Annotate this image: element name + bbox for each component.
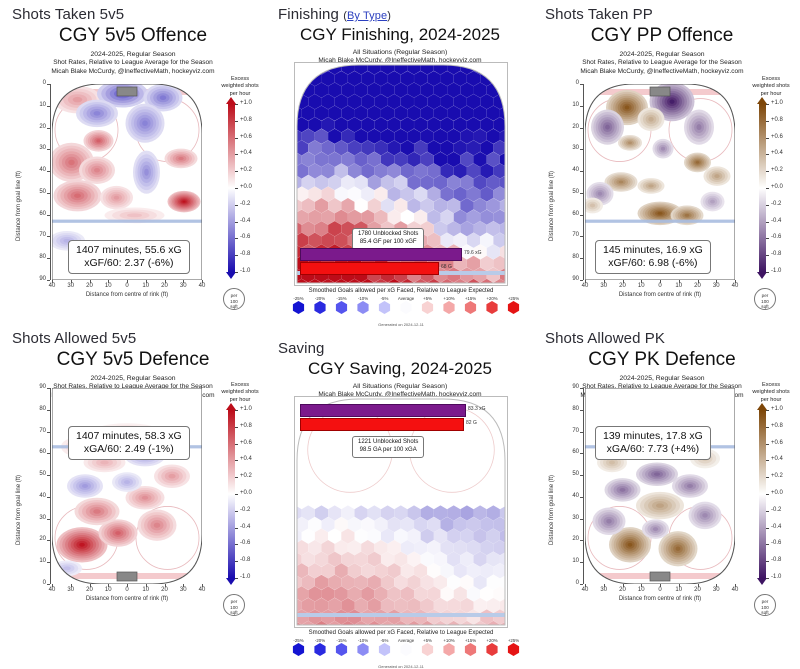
- x-axis-tick: 40: [726, 587, 744, 593]
- colorbar-tickmark: [766, 121, 769, 122]
- hex-legend-item: Average: [396, 296, 417, 314]
- colorbar-tickmark: [235, 410, 238, 411]
- x-axis-tickmark: [641, 584, 642, 587]
- colorbar-tickmark: [766, 272, 769, 273]
- y-axis-tick: 30: [561, 145, 579, 151]
- y-axis-tickmark: [47, 193, 50, 194]
- y-axis-tickmark: [47, 258, 50, 259]
- x-axis-tickmark: [660, 280, 661, 283]
- stat-box-pp-offence: 145 minutes, 16.9 xG xGF/60: 6.98 (-6%): [595, 240, 711, 274]
- colorbar-min-arrow: [757, 578, 767, 585]
- colorbar-5v5-offence: Excessweighted shotsper hour+1.0+0.8+0.6…: [216, 76, 272, 306]
- colorbar-tick-label: +0.6: [771, 134, 783, 140]
- x-axis-tickmark: [641, 280, 642, 283]
- hex-legend-saving: Smoothed Goals allowed per xG Faced, Rel…: [276, 630, 526, 667]
- colorbar-tickmark: [235, 427, 238, 428]
- hex-legend-label: -15%: [331, 638, 352, 643]
- y-axis-tick: 20: [561, 124, 579, 130]
- y-axis-tick: 70: [561, 428, 579, 434]
- hex-legend-label: Average: [396, 296, 417, 301]
- colorbar-tickmark: [766, 444, 769, 445]
- y-axis-tick: 10: [561, 558, 579, 564]
- y-axis-label: Distance from goal line (ft): [549, 171, 555, 241]
- y-axis-tickmark: [580, 584, 583, 585]
- per-area-badge: per100sqft: [223, 288, 245, 310]
- y-axis-tickmark: [47, 84, 50, 85]
- y-axis-tickmark: [580, 475, 583, 476]
- colorbar-tick-label: +0.0: [771, 490, 783, 496]
- x-axis-tick: 0: [118, 283, 136, 289]
- x-axis-tickmark: [146, 584, 147, 587]
- colorbar-tick-label: +0.2: [240, 167, 252, 173]
- y-axis-tick: 90: [561, 384, 579, 390]
- colorbar-gradient: [228, 104, 235, 272]
- colorbar-tick-label: -1.0: [771, 268, 781, 274]
- y-axis-tick: 70: [28, 232, 46, 238]
- colorbar-tickmark: [235, 544, 238, 545]
- y-axis-tick: 60: [28, 449, 46, 455]
- x-axis-tickmark: [108, 584, 109, 587]
- x-axis-tick: 20: [156, 587, 174, 593]
- x-axis-tick: 40: [576, 283, 594, 289]
- x-axis-tickmark: [623, 584, 624, 587]
- y-axis-tick: 90: [28, 384, 46, 390]
- colorbar-tickmark: [766, 544, 769, 545]
- y-axis-tick: 90: [561, 276, 579, 282]
- y-axis-tick: 50: [561, 189, 579, 195]
- y-axis-tickmark: [580, 149, 583, 150]
- colorbar-tick-label: -0.6: [240, 540, 250, 546]
- colorbar-tick-label: +0.4: [771, 150, 783, 156]
- y-axis-spine: [50, 84, 51, 280]
- x-axis-tickmark: [735, 584, 736, 587]
- hex-legend-label: -20%: [310, 638, 331, 643]
- y-axis-tickmark: [47, 432, 50, 433]
- x-axis-tick: 30: [174, 587, 192, 593]
- colorbar-tick-label: +0.0: [240, 184, 252, 190]
- x-axis-tickmark: [108, 280, 109, 283]
- colorbar-tickmark: [235, 255, 238, 256]
- hex-legend-item: -15%: [331, 296, 352, 314]
- colorbar-tick-label: -0.8: [771, 251, 781, 257]
- y-axis-tickmark: [580, 562, 583, 563]
- colorbar-tickmark: [766, 188, 769, 189]
- colorbar-tick-label: +1.0: [771, 100, 783, 106]
- x-axis-tick: 20: [614, 283, 632, 289]
- y-axis-tick: 40: [561, 493, 579, 499]
- bar-expected-label-finishing: 79.6 xG: [464, 250, 482, 256]
- hex-legend-swatch: [507, 301, 520, 314]
- y-axis-label: Distance from goal line (ft): [16, 171, 22, 241]
- hex-legend-title-finishing: Smoothed Goals allowed per xG Faced, Rel…: [276, 288, 526, 294]
- hex-legend-swatch: [335, 301, 348, 314]
- colorbar-tick-label: -0.2: [771, 201, 781, 207]
- y-axis-tickmark: [47, 149, 50, 150]
- y-axis-tickmark: [47, 128, 50, 129]
- x-axis-tickmark: [660, 584, 661, 587]
- y-axis-tick: 20: [561, 536, 579, 542]
- y-axis-tickmark: [580, 193, 583, 194]
- hex-legend-label: -10%: [353, 296, 374, 301]
- colorbar-tickmark: [766, 410, 769, 411]
- per-area-badge: per100sqft: [754, 594, 776, 616]
- y-axis-tickmark: [580, 432, 583, 433]
- y-axis-tickmark: [47, 171, 50, 172]
- y-axis-tick: 60: [28, 211, 46, 217]
- per-area-badge: per100sqft: [754, 288, 776, 310]
- hex-legend-item: -10%: [353, 638, 374, 656]
- per-area-badge: per100sqft: [223, 594, 245, 616]
- y-axis-tick: 40: [28, 493, 46, 499]
- y-axis-spine: [583, 388, 584, 584]
- hex-legend-finishing: Smoothed Goals allowed per xG Faced, Rel…: [276, 288, 526, 325]
- hex-legend-label: +25%: [503, 638, 524, 643]
- colorbar-tick-label: -0.2: [240, 507, 250, 513]
- hex-legend-swatch: [314, 643, 327, 656]
- y-axis-tickmark: [580, 280, 583, 281]
- colorbar-gradient: [228, 410, 235, 578]
- panel-saving: Saving CGY Saving, 2024-2025 All Situati…: [268, 326, 533, 653]
- x-axis-tick: 0: [651, 283, 669, 289]
- colorbar-tickmark: [235, 154, 238, 155]
- hex-legend-item: +5%: [417, 638, 438, 656]
- colorbar-min-arrow: [226, 272, 236, 279]
- hex-legend-swatch: [378, 643, 391, 656]
- x-axis-tickmark: [127, 280, 128, 283]
- hex-legend-item: -25%: [288, 296, 309, 314]
- colorbar-tick-label: -0.2: [240, 201, 250, 207]
- x-axis-tickmark: [716, 280, 717, 283]
- x-axis-tick: 10: [632, 283, 650, 289]
- hex-legend-label: -5%: [374, 638, 395, 643]
- stat-box-5v5-defence: 1407 minutes, 58.3 xG xGA/60: 2.49 (-1%): [68, 426, 190, 460]
- y-axis-tickmark: [47, 519, 50, 520]
- y-axis-tick: 70: [28, 428, 46, 434]
- hex-legend-item: +25%: [503, 638, 524, 656]
- x-axis-tick: 30: [62, 283, 80, 289]
- rink-surface: [52, 388, 202, 584]
- x-axis-tick: 20: [689, 587, 707, 593]
- colorbar-title: Excessweighted shotsper hour: [747, 76, 795, 98]
- stat-box-pk-defence: 139 minutes, 17.8 xG xGA/60: 7.73 (+4%): [595, 426, 711, 460]
- colorbar-tick-label: +0.4: [240, 456, 252, 462]
- colorbar-tickmark: [766, 205, 769, 206]
- hex-legend-item: -5%: [374, 296, 395, 314]
- panel-finishing: Finishing (By Type) CGY Finishing, 2024-…: [268, 0, 533, 326]
- y-axis-tick: 30: [28, 145, 46, 151]
- colorbar-tick-label: -1.0: [240, 268, 250, 274]
- hex-legend-swatch: [378, 301, 391, 314]
- hex-legend-label: -5%: [374, 296, 395, 301]
- colorbar-title: Excessweighted shotsper hour: [216, 76, 264, 98]
- x-axis-tickmark: [585, 584, 586, 587]
- x-axis-tickmark: [585, 280, 586, 283]
- hex-legend-swatch: [400, 301, 413, 314]
- y-axis-tick: 50: [28, 189, 46, 195]
- y-axis-tickmark: [580, 215, 583, 216]
- hex-legend-label: -10%: [353, 638, 374, 643]
- colorbar-tickmark: [235, 272, 238, 273]
- hex-legend-swatch: [292, 643, 305, 656]
- x-axis-tick: 10: [137, 587, 155, 593]
- x-axis-tickmark: [71, 584, 72, 587]
- y-axis-tickmark: [47, 388, 50, 389]
- colorbar-tick-label: -1.0: [240, 574, 250, 580]
- colorbar-gradient: [759, 104, 766, 272]
- rink-surface: [585, 388, 735, 584]
- colorbar-tickmark: [766, 104, 769, 105]
- colorbar-min-arrow: [757, 272, 767, 279]
- y-axis-tickmark: [47, 497, 50, 498]
- colorbar-tick-label: +0.4: [771, 456, 783, 462]
- colorbar-tick-label: -0.8: [240, 557, 250, 563]
- colorbar-tick-label: +0.8: [240, 423, 252, 429]
- colorbar-tick-label: -0.4: [240, 524, 250, 530]
- colorbar-tick-label: -1.0: [771, 574, 781, 580]
- x-axis-tick: 30: [62, 587, 80, 593]
- x-axis-tickmark: [90, 280, 91, 283]
- hex-legend-item: +5%: [417, 296, 438, 314]
- y-axis-tickmark: [580, 453, 583, 454]
- hex-legend-item: +10%: [439, 296, 460, 314]
- x-axis-tick: 10: [137, 283, 155, 289]
- colorbar-tick-label: +0.8: [771, 423, 783, 429]
- x-axis-tickmark: [165, 584, 166, 587]
- x-axis-label: Distance from centre of rink (ft): [585, 596, 735, 602]
- chart-title-finishing: CGY Finishing, 2024-2025: [280, 26, 520, 44]
- hex-legend-label: +15%: [460, 638, 481, 643]
- colorbar-max-arrow: [757, 97, 767, 104]
- colorbar-tick-label: -0.8: [240, 251, 250, 257]
- x-axis-tick: 20: [81, 587, 99, 593]
- hex-legend-swatch: [357, 301, 370, 314]
- x-axis-tick: 30: [595, 283, 613, 289]
- finishing-by-type-link[interactable]: By Type: [347, 10, 387, 22]
- y-axis-tick: 80: [561, 406, 579, 412]
- colorbar-tickmark: [235, 138, 238, 139]
- colorbar-tick-label: +0.2: [771, 167, 783, 173]
- y-axis-tick: 80: [28, 254, 46, 260]
- colorbar-tick-label: +0.6: [240, 134, 252, 140]
- x-axis-tickmark: [165, 280, 166, 283]
- x-axis-tickmark: [90, 584, 91, 587]
- hex-legend-swatch: [314, 301, 327, 314]
- y-axis-tick: 20: [28, 124, 46, 130]
- x-axis-tick: 10: [632, 587, 650, 593]
- y-axis-tickmark: [580, 258, 583, 259]
- y-axis-tickmark: [580, 171, 583, 172]
- hex-legend-swatch: [486, 301, 499, 314]
- y-axis-tick: 80: [561, 254, 579, 260]
- y-axis-tickmark: [47, 584, 50, 585]
- hex-legend-label: -20%: [310, 296, 331, 301]
- y-axis-tick: 10: [28, 558, 46, 564]
- x-axis-tick: 20: [614, 587, 632, 593]
- x-axis-tickmark: [71, 280, 72, 283]
- colorbar-tickmark: [766, 238, 769, 239]
- x-axis-tick: 40: [193, 587, 211, 593]
- y-axis-tick: 10: [561, 102, 579, 108]
- hex-legend-swatch: [443, 643, 456, 656]
- x-axis-tick: 0: [651, 587, 669, 593]
- saving-situations: All Situations (Regular Season): [280, 382, 520, 391]
- colorbar-tickmark: [766, 561, 769, 562]
- y-axis-tick: 60: [561, 449, 579, 455]
- colorbar-tick-label: +0.0: [771, 184, 783, 190]
- x-axis-tick: 40: [193, 283, 211, 289]
- hex-legend-item: -10%: [353, 296, 374, 314]
- hex-legend-label: +5%: [417, 296, 438, 301]
- colorbar-tickmark: [235, 171, 238, 172]
- x-axis-tick: 10: [99, 587, 117, 593]
- panel-shots-allowed-5v5: Shots Allowed 5v5 CGY 5v5 Defence 2024-2…: [0, 326, 268, 653]
- colorbar-tick-label: -0.6: [771, 540, 781, 546]
- x-axis-tickmark: [698, 280, 699, 283]
- y-axis-tick: 30: [28, 515, 46, 521]
- x-axis-label: Distance from centre of rink (ft): [52, 292, 202, 298]
- x-axis-tick: 40: [726, 283, 744, 289]
- colorbar-tick-label: -0.4: [771, 218, 781, 224]
- colorbar-tick-label: -0.6: [771, 234, 781, 240]
- x-axis-tick: 30: [707, 283, 725, 289]
- hex-legend-item: Average: [396, 638, 417, 656]
- colorbar-tickmark: [235, 528, 238, 529]
- hex-legend-item: +25%: [503, 296, 524, 314]
- hex-legend-item: -20%: [310, 296, 331, 314]
- x-axis-tick: 30: [707, 587, 725, 593]
- colorbar-tick-label: -0.4: [771, 524, 781, 530]
- y-axis-tick: 0: [28, 580, 46, 586]
- x-axis-tickmark: [604, 280, 605, 283]
- hex-legend-swatch: [357, 643, 370, 656]
- hex-legend-label: Average: [396, 638, 417, 643]
- y-axis-tick: 10: [28, 102, 46, 108]
- hex-legend-title-saving: Smoothed Goals allowed per xG Faced, Rel…: [276, 630, 526, 636]
- section-label-saving: Saving: [278, 340, 324, 357]
- colorbar-tickmark: [766, 460, 769, 461]
- x-axis-tickmark: [698, 584, 699, 587]
- stat-box-5v5-offence: 1407 minutes, 55.6 xG xGF/60: 2.37 (-6%): [68, 240, 190, 274]
- hex-legend-label: -25%: [288, 296, 309, 301]
- section-label-finishing: Finishing (By Type): [278, 6, 391, 23]
- chart-title-saving: CGY Saving, 2024-2025: [280, 360, 520, 378]
- y-axis-tick: 0: [561, 580, 579, 586]
- colorbar-tickmark: [235, 121, 238, 122]
- x-axis-tick: 20: [689, 283, 707, 289]
- colorbar-tick-label: +0.6: [240, 440, 252, 446]
- y-axis-label: Distance from goal line (ft): [549, 475, 555, 545]
- colorbar-tickmark: [766, 154, 769, 155]
- colorbar-tick-label: +1.0: [771, 406, 783, 412]
- colorbar-max-arrow: [226, 97, 236, 104]
- x-axis-label: Distance from centre of rink (ft): [52, 596, 202, 602]
- colorbar-min-arrow: [226, 578, 236, 585]
- hex-legend-item: +20%: [482, 638, 503, 656]
- hex-legend-swatch: [421, 643, 434, 656]
- hex-legend-item: +15%: [460, 638, 481, 656]
- y-axis-tick: 50: [561, 471, 579, 477]
- hex-legend-swatch: [443, 301, 456, 314]
- shot-count-box-finishing: 1780 Unblocked Shots 85.4 GF per 100 xGF: [352, 228, 424, 250]
- y-axis-tickmark: [47, 106, 50, 107]
- colorbar-tickmark: [766, 171, 769, 172]
- colorbar-tick-label: +1.0: [240, 100, 252, 106]
- hex-legend-item: -20%: [310, 638, 331, 656]
- colorbar-tickmark: [766, 255, 769, 256]
- y-axis-tick: 90: [28, 276, 46, 282]
- colorbar-tickmark: [235, 444, 238, 445]
- y-axis-tick: 60: [561, 211, 579, 217]
- colorbar-5v5-defence: Excessweighted shotsper hour+1.0+0.8+0.6…: [216, 382, 272, 612]
- shot-count-box-saving: 1221 Unblocked Shots 98.5 GA per 100 xGA: [352, 436, 424, 458]
- y-axis-tick: 0: [561, 80, 579, 86]
- y-axis-tickmark: [580, 410, 583, 411]
- colorbar-tickmark: [766, 494, 769, 495]
- hex-legend-item: -25%: [288, 638, 309, 656]
- hex-legend-item: +20%: [482, 296, 503, 314]
- x-axis-tick: 20: [156, 283, 174, 289]
- x-axis-tick: 40: [43, 587, 61, 593]
- x-axis-tick: 30: [174, 283, 192, 289]
- colorbar-tick-label: +0.2: [771, 473, 783, 479]
- y-axis-tickmark: [47, 540, 50, 541]
- colorbar-tick-label: +0.2: [240, 473, 252, 479]
- colorbar-pk-defence: Excessweighted shotsper hour+1.0+0.8+0.6…: [747, 382, 800, 612]
- y-axis-tickmark: [580, 497, 583, 498]
- y-axis-tickmark: [47, 453, 50, 454]
- y-axis-tick: 80: [28, 406, 46, 412]
- x-axis-tick: 40: [43, 283, 61, 289]
- x-axis-tick: 30: [595, 587, 613, 593]
- x-axis-tick: 10: [670, 587, 688, 593]
- colorbar-title: Excessweighted shotsper hour: [747, 382, 795, 404]
- colorbar-tickmark: [235, 561, 238, 562]
- y-axis-tick: 0: [28, 80, 46, 86]
- colorbar-tickmark: [235, 188, 238, 189]
- x-axis-tickmark: [679, 280, 680, 283]
- colorbar-tickmark: [235, 238, 238, 239]
- colorbar-pp-offence: Excessweighted shotsper hour+1.0+0.8+0.6…: [747, 76, 800, 306]
- y-axis-tick: 40: [28, 167, 46, 173]
- hex-legend-swatch: [464, 643, 477, 656]
- colorbar-tickmark: [766, 511, 769, 512]
- finishing-label-text: Finishing: [278, 6, 343, 23]
- colorbar-tickmark: [235, 578, 238, 579]
- colorbar-tick-label: +0.8: [240, 117, 252, 123]
- x-axis-tickmark: [52, 584, 53, 587]
- colorbar-tick-label: +0.4: [240, 150, 252, 156]
- colorbar-tickmark: [766, 138, 769, 139]
- x-axis-tick: 20: [81, 283, 99, 289]
- colorbar-tick-label: -0.8: [771, 557, 781, 563]
- x-axis-tickmark: [202, 584, 203, 587]
- colorbar-tickmark: [235, 511, 238, 512]
- colorbar-tick-label: +0.6: [771, 440, 783, 446]
- colorbar-tick-label: -0.2: [771, 507, 781, 513]
- y-axis-tickmark: [47, 475, 50, 476]
- panel-shots-taken-5v5: Shots Taken 5v5 CGY 5v5 Offence 2024-202…: [0, 0, 268, 326]
- hex-legend-swatch: [335, 643, 348, 656]
- colorbar-tickmark: [766, 477, 769, 478]
- colorbar-tick-label: -0.6: [240, 234, 250, 240]
- colorbar-tickmark: [235, 477, 238, 478]
- x-axis-tickmark: [623, 280, 624, 283]
- x-axis-tickmark: [52, 280, 53, 283]
- y-axis-spine: [50, 388, 51, 584]
- colorbar-tickmark: [235, 494, 238, 495]
- x-axis-tick: 10: [99, 283, 117, 289]
- y-axis-tick: 30: [561, 515, 579, 521]
